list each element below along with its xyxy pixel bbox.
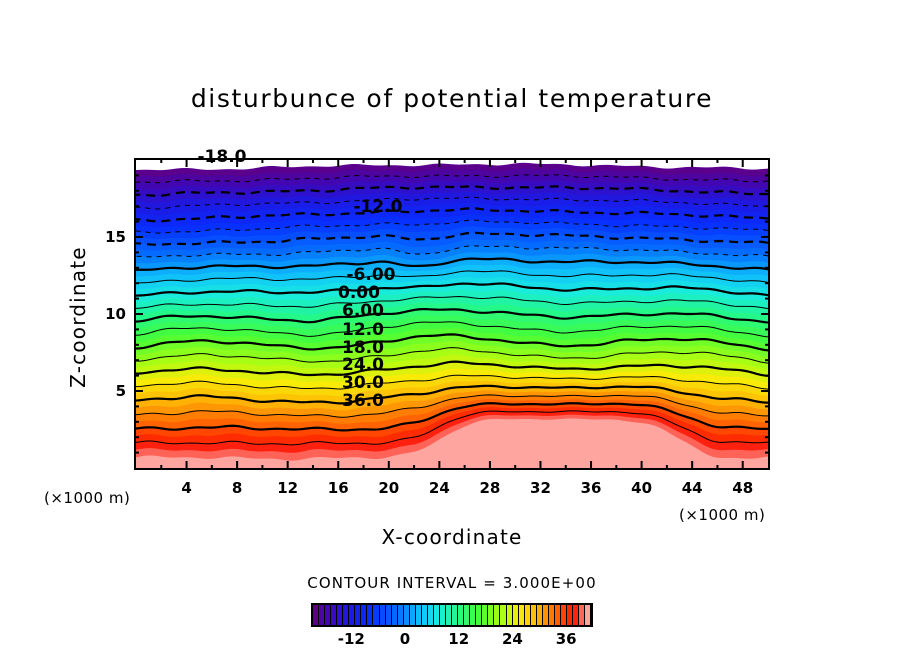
x-tick-label-16: 16 [328,479,349,497]
chart-title: disturbunce of potential temperature [0,84,904,113]
contour-label-0.00: 0.00 [338,283,380,303]
x-tick-label-24: 24 [429,479,450,497]
contour-label-6.00: 6.00 [342,301,384,321]
x-axis-label: X-coordinate [0,525,904,549]
contour-plot-figure: disturbunce of potential temperature 481… [0,0,904,654]
x-tick-label-28: 28 [479,479,500,497]
y-tick-label-15: 15 [96,228,126,246]
x-tick-label-48: 48 [732,479,753,497]
colorbar-tick-label--12: -12 [338,630,365,648]
colorbar-tick-label-0: 0 [400,630,410,648]
y-tick-label-5: 5 [96,382,126,400]
contour-label--18.0: -18.0 [198,147,247,167]
contour-label--12.0: -12.0 [354,197,403,217]
x-tick-label-12: 12 [277,479,298,497]
x-units-left: (×1000 m) [44,489,130,507]
x-units-right: (×1000 m) [679,506,765,524]
colorbar-tick-label-12: 12 [448,630,469,648]
y-axis-label: Z-coordinate [66,217,90,417]
x-tick-label-32: 32 [530,479,551,497]
x-tick-label-36: 36 [581,479,602,497]
contour-field-svg [136,160,768,468]
contour-label-12.0: 12.0 [342,320,384,340]
x-tick-label-8: 8 [232,479,242,497]
contour-interval-label: CONTOUR INTERVAL = 3.000E+00 [0,574,904,592]
x-tick-label-20: 20 [378,479,399,497]
contour-label--6.00: -6.00 [347,265,396,285]
plot-area[interactable] [134,158,770,470]
contour-label-30.0: 30.0 [342,373,384,393]
contour-label-36.0: 36.0 [342,391,384,411]
y-tick-label-10: 10 [96,305,126,323]
x-tick-label-44: 44 [682,479,703,497]
contour-label-24.0: 24.0 [342,355,384,375]
colorbar[interactable] [311,603,593,627]
colorbar-cell [585,605,591,625]
colorbar-tick-label-36: 36 [556,630,577,648]
colorbar-tick-label-24: 24 [502,630,523,648]
x-tick-label-4: 4 [181,479,191,497]
x-tick-label-40: 40 [631,479,652,497]
